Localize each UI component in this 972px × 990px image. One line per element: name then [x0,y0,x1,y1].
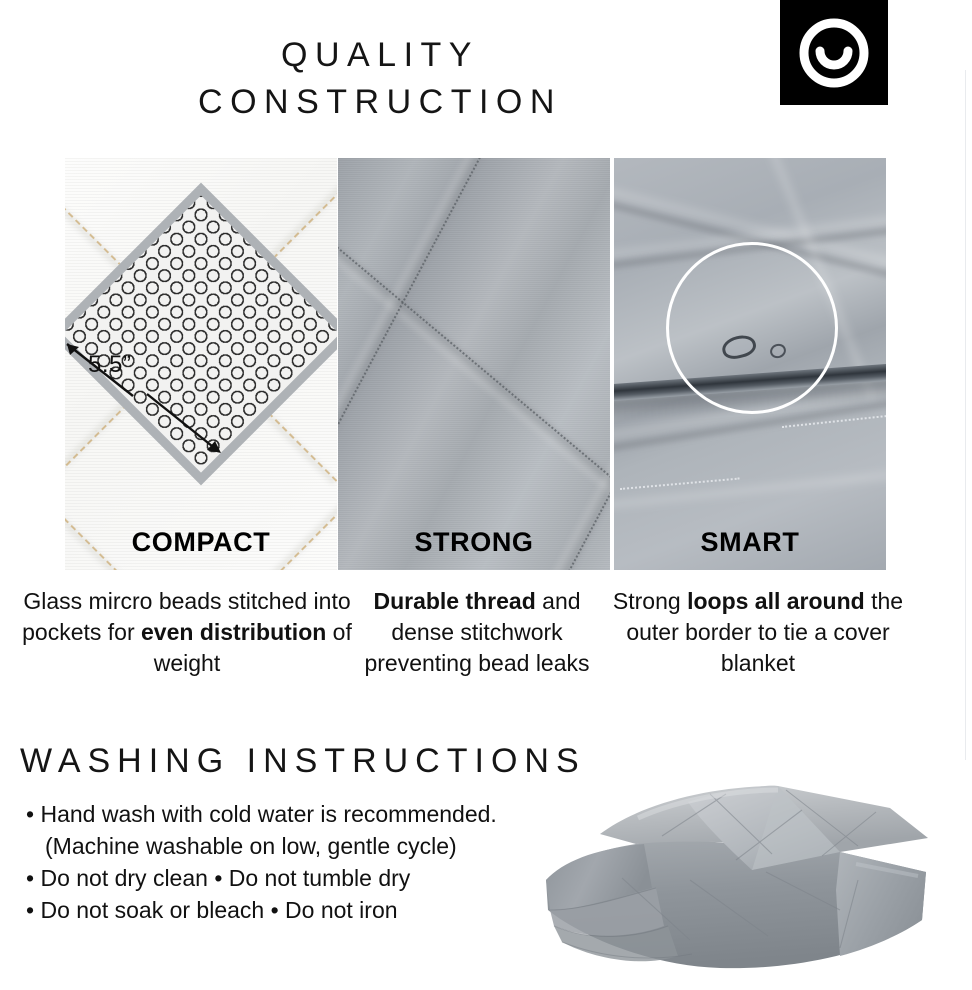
washing-instructions-list: • Hand wash with cold water is recommend… [26,798,546,926]
bullet-icon: • [26,801,34,827]
page-title-line-2: CONSTRUCTION [0,79,760,126]
feature-image-strong: STRONG [338,158,610,570]
page-title-line-1: QUALITY [0,32,760,79]
washing-instruction-item: (Machine washable on low, gentle cycle) [26,830,546,862]
bullet-icon: • [26,865,34,891]
washing-instruction-item: • Do not soak or bleach • Do not iron [26,894,546,926]
feature-image-smart: SMART [614,158,886,570]
washing-instruction-item: • Hand wash with cold water is recommend… [26,798,546,830]
caption-text-part-bold: loops all around [687,588,865,614]
caption-text-part-bold: Durable thread [373,588,535,614]
folded-blanket-image [540,760,960,985]
feature-panels: 5.5” COMPACT STRONG [0,158,972,570]
caption-text-part-bold: even distribution [141,619,326,645]
feature-label-strong: STRONG [338,527,610,558]
washing-instruction-text: Hand wash with cold water is recommended… [40,801,496,827]
washing-instructions-title: WASHING INSTRUCTIONS [20,742,586,781]
infographic-page: QUALITY CONSTRUCTION [0,0,972,990]
feature-label-smart: SMART [614,527,886,558]
bullet-icon: • [26,897,34,923]
washing-instruction-text: Do not soak or bleach • Do not iron [40,897,397,923]
brand-logo [780,0,888,105]
page-title: QUALITY CONSTRUCTION [0,32,760,126]
dimension-label: 5.5” [88,351,131,379]
smiley-circle-logo-icon [797,16,871,90]
dimension-arrow-lower [143,390,235,462]
feature-label-compact: COMPACT [65,527,337,558]
feature-caption-compact: Glass mircro beads stitched into pockets… [22,586,352,679]
feature-image-compact: 5.5” COMPACT [65,158,337,570]
washing-instruction-text: (Machine washable on low, gentle cycle) [45,833,457,859]
highlight-circle-icon [666,242,838,414]
washing-instruction-text: Do not dry clean • Do not tumble dry [40,865,410,891]
feature-caption-strong: Durable thread and dense stitchwork prev… [352,586,602,679]
caption-text-part: Strong [613,588,687,614]
feature-caption-smart: Strong loops all around the outer border… [608,586,908,679]
washing-instruction-item: • Do not dry clean • Do not tumble dry [26,862,546,894]
